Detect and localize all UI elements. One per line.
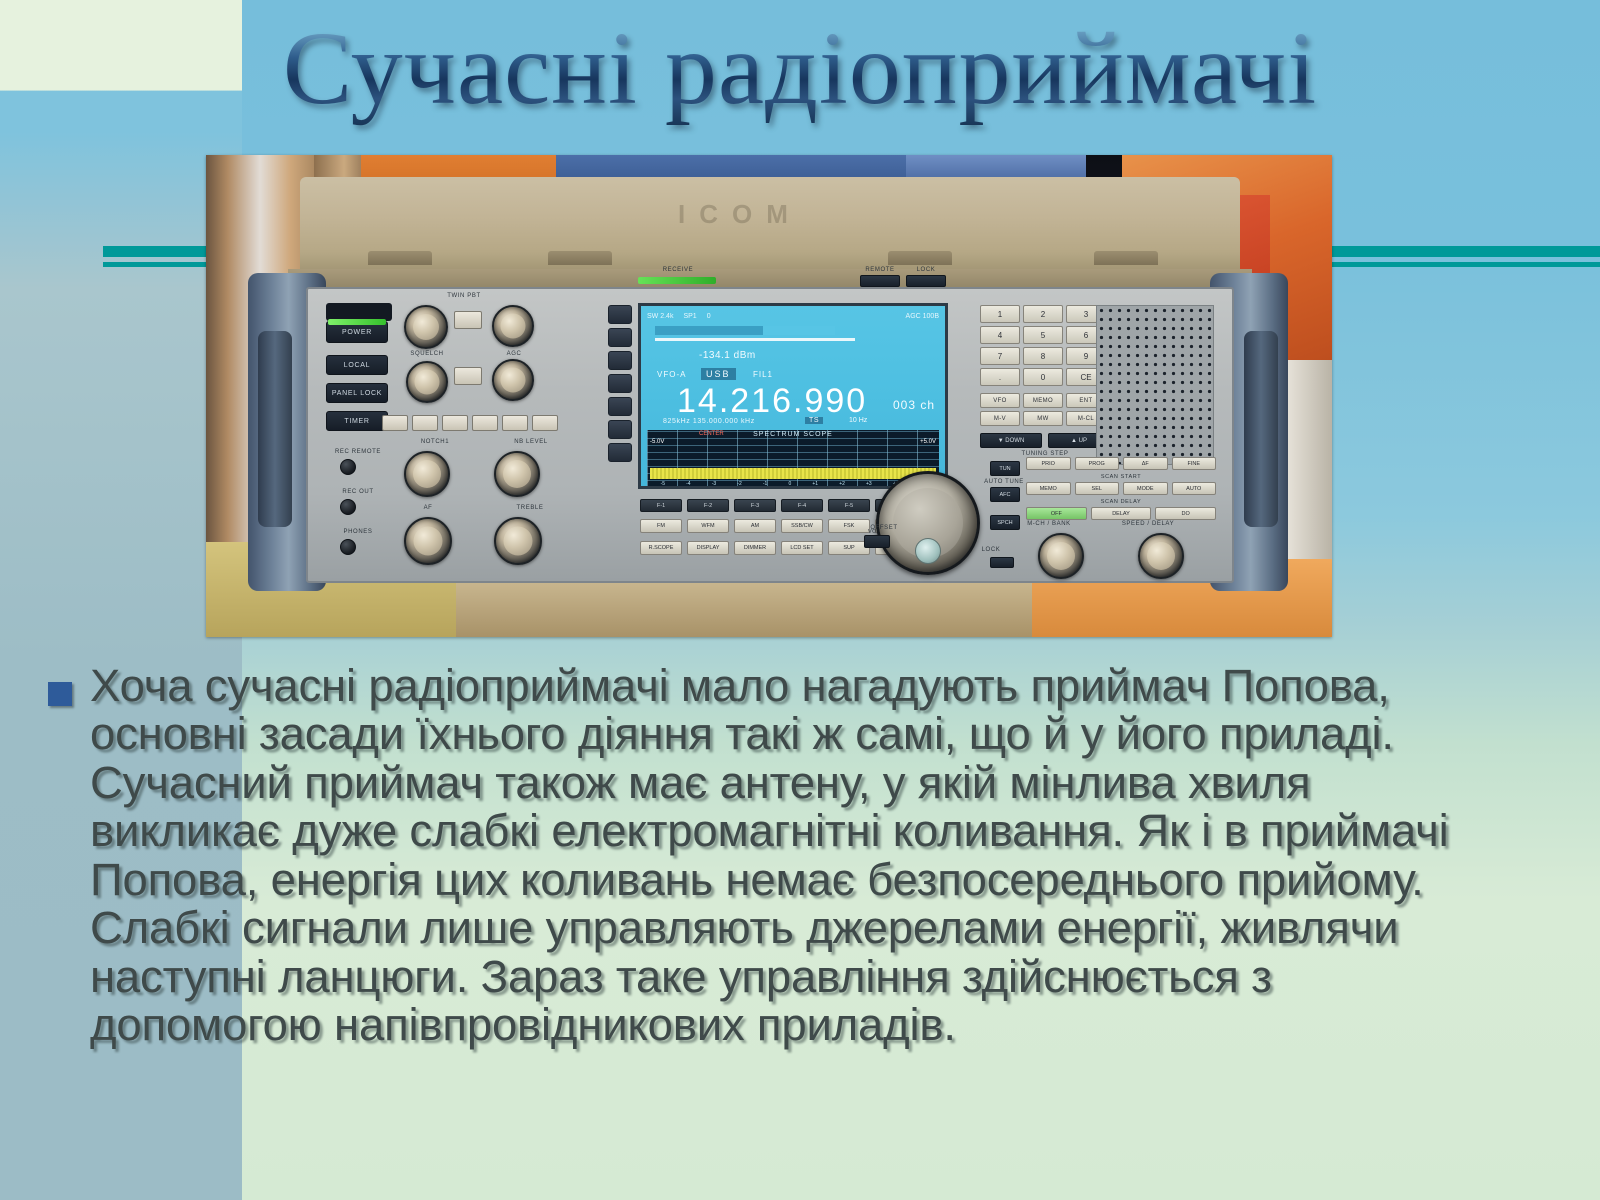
rack-handle-grip — [258, 331, 292, 527]
agc-knob[interactable] — [492, 359, 534, 401]
keypad-key-5[interactable]: 5 — [1023, 326, 1063, 344]
scope-title: SPECTRUM SCOPE — [647, 431, 939, 438]
scan-row-2: MEMO SEL MODE AUTO — [1026, 482, 1216, 495]
keypad-key-1[interactable]: 1 — [980, 305, 1020, 323]
scope-tick: -5 — [661, 481, 665, 487]
keypad-key-memo[interactable]: MEMO — [1023, 393, 1063, 408]
scan-key-fine[interactable]: FINE — [1172, 457, 1217, 470]
brand-logo: ICOM — [678, 199, 938, 229]
content-bullet-block: Хоча сучасні радіоприймачі мало нагадуют… — [48, 662, 1478, 1050]
scope-noise-floor — [650, 468, 936, 479]
timer-button[interactable]: TIMER — [326, 411, 388, 431]
softkey-column — [608, 305, 632, 466]
squelch-knob[interactable] — [406, 361, 448, 403]
function-key[interactable]: F-2 — [687, 499, 729, 512]
keypad-key-4[interactable]: 4 — [980, 326, 1020, 344]
scan-key-do[interactable]: DO — [1155, 507, 1216, 520]
squelch-label: SQUELCH — [404, 351, 450, 357]
lid-tab — [1094, 251, 1158, 265]
lcd-status-bar: SW 2.4k SP1 0 AGC 100B — [647, 310, 939, 322]
notch-knob[interactable] — [404, 451, 450, 497]
knob-cap — [414, 527, 443, 556]
rec-out-jack[interactable] — [340, 499, 356, 515]
scope-tick: +1 — [812, 481, 818, 487]
local-button[interactable]: LOCAL — [326, 355, 388, 375]
scope-tick: 0 — [788, 481, 791, 487]
scan-key-prog[interactable]: PROG — [1075, 457, 1120, 470]
panel-lock-button[interactable]: PANEL LOCK — [326, 383, 388, 403]
speaker-grille — [1096, 305, 1214, 465]
local-button-label: LOCAL — [344, 362, 370, 369]
lcd-frequency: 14.216.990 — [677, 382, 867, 421]
scope-center-marker: CENTER — [699, 431, 724, 437]
mode-key-wfm[interactable]: WFM — [687, 519, 729, 533]
softkey-4[interactable] — [608, 374, 632, 393]
speed-delay-label: SPEED / DELAY — [1098, 521, 1198, 527]
scope-tick: +3 — [866, 481, 872, 487]
knob-cap — [1047, 542, 1075, 570]
afc-button[interactable]: AFC — [990, 487, 1020, 502]
utility-key-rscope[interactable]: R.SCOPE — [640, 541, 682, 555]
scan-row-1: PRIO PROG ΔF FINE — [1026, 457, 1216, 470]
m-ch-bank-knob[interactable] — [1038, 533, 1084, 579]
treble-bass-knob[interactable] — [494, 517, 542, 565]
lcd-mode-badge: USB — [701, 368, 736, 380]
agc-mini-button[interactable] — [454, 367, 482, 385]
mode-key-fm[interactable]: FM — [640, 519, 682, 533]
scan-key-memo[interactable]: MEMO — [1026, 482, 1071, 495]
knob-cap — [501, 368, 526, 393]
keypad-digits: 1 2 3 4 5 6 7 8 9 . 0 CE — [980, 305, 1110, 386]
mode-key-ssb-cw[interactable]: SSB/CW — [781, 519, 823, 533]
softkey-2[interactable] — [608, 328, 632, 347]
scope-tick: +2 — [839, 481, 845, 487]
rec-remote-label: REC REMOTE — [318, 449, 398, 455]
keypad-function-keys: VFO MEMO ENT M-V MW M-CL — [980, 393, 1110, 426]
lcd-channel: 003 ch — [893, 398, 935, 412]
scan-key-delay[interactable]: DELAY — [1091, 507, 1152, 520]
knob-cap — [501, 314, 526, 339]
offset-label: OFFSET — [864, 525, 904, 531]
knob-cap — [415, 370, 440, 395]
notch1-switch[interactable] — [412, 415, 438, 431]
scan-row-3: OFF DELAY DO — [1026, 507, 1216, 520]
lcd-speaker: SP1 — [683, 313, 696, 320]
knob-cap — [413, 314, 439, 340]
scan-key-prio[interactable]: PRIO — [1026, 457, 1071, 470]
receiver-photograph: ICOM RECEIVE REMOTE LOCK — [206, 155, 1332, 637]
offset-button[interactable] — [864, 535, 890, 548]
utility-key-dimmer[interactable]: DIMMER — [734, 541, 776, 555]
lid-tab — [548, 251, 612, 265]
lock-button[interactable] — [906, 275, 946, 287]
phones-jack[interactable] — [340, 539, 356, 555]
function-key[interactable]: F-5 — [828, 499, 870, 512]
scan-key-off[interactable]: OFF — [1026, 507, 1087, 520]
agc-label: AGC — [494, 351, 534, 357]
lid-tab — [368, 251, 432, 265]
lcd-signal-level: -134.1 dBm — [699, 350, 756, 361]
tuning-step-buttons: ▼ DOWN ▲ UP — [980, 433, 1110, 448]
receiver-chassis: ICOM RECEIVE REMOTE LOCK — [248, 177, 1288, 601]
receiver-faceplate: RECEIVE REMOTE LOCK POWER LOCAL PANEL LO… — [306, 287, 1234, 583]
scan-start-label: SCAN START — [1026, 474, 1216, 480]
remote-button[interactable] — [860, 275, 900, 287]
softkey-7[interactable] — [608, 443, 632, 462]
softkey-6[interactable] — [608, 420, 632, 439]
af-rf-label: AF — [388, 505, 468, 511]
nr-switch[interactable] — [532, 415, 558, 431]
slide-title: Сучасні радіоприймачі — [0, 8, 1600, 131]
treble-bass-label: TREBLE — [480, 505, 580, 511]
keypad-key-2[interactable]: 2 — [1023, 305, 1063, 323]
tuning-down-button[interactable]: ▼ DOWN — [980, 433, 1042, 448]
phones-label: PHONES — [318, 529, 398, 535]
m-ch-bank-label: M-CH / BANK — [1004, 521, 1094, 527]
lock-label: LOCK — [906, 267, 946, 273]
lcd-step-value: 10 Hz — [849, 417, 867, 424]
scan-key-auto[interactable]: AUTO — [1172, 482, 1217, 495]
notch-knob-label: NOTCH1 — [380, 439, 490, 445]
scope-tick: -4 — [686, 481, 690, 487]
softkey-1[interactable] — [608, 305, 632, 324]
notch2-switch[interactable] — [442, 415, 468, 431]
rec-out-label: REC OUT — [318, 489, 398, 495]
utility-key-display[interactable]: DISPLAY — [687, 541, 729, 555]
function-key[interactable]: F-3 — [734, 499, 776, 512]
lcd-bandwidth: SW 2.4k — [647, 313, 673, 320]
utility-key-lcd-set[interactable]: LCD SET — [781, 541, 823, 555]
softkey-5[interactable] — [608, 397, 632, 416]
rit-switch[interactable] — [382, 415, 408, 431]
receive-led — [638, 277, 716, 284]
lcd-agc: AGC 100B — [906, 313, 939, 320]
lcd-s-meter — [655, 326, 835, 335]
scope-tick: -2 — [737, 481, 741, 487]
softkey-3[interactable] — [608, 351, 632, 370]
presentation-slide: Сучасні радіоприймачі ICOM — [0, 0, 1600, 1200]
remote-label: REMOTE — [860, 267, 900, 273]
apf-switch[interactable] — [472, 415, 498, 431]
scan-key-mode[interactable]: MODE — [1123, 482, 1168, 495]
dial-lock-button[interactable] — [990, 557, 1014, 568]
scan-key-sel[interactable]: SEL — [1075, 482, 1120, 495]
auto-tune-label: AUTO TUNE — [974, 479, 1034, 485]
af-rf-knob[interactable] — [404, 517, 452, 565]
tun-button[interactable]: TUN — [990, 461, 1020, 476]
knob-cap — [413, 460, 441, 488]
function-key[interactable]: F-4 — [781, 499, 823, 512]
numeric-keypad: 1 2 3 4 5 6 7 8 9 . 0 CE VFO — [980, 305, 1110, 454]
scope-tick: -1 — [763, 481, 767, 487]
scan-key-df[interactable]: ΔF — [1123, 457, 1168, 470]
lcd-zero: 0 — [707, 313, 711, 320]
lcd-sub-info: 825kHz 135.000.000 kHz — [663, 418, 755, 425]
lock-knob-label: LOCK — [974, 547, 1008, 553]
knob-cap — [503, 460, 531, 488]
lid-tab — [888, 251, 952, 265]
power-led — [328, 319, 386, 325]
pbt-outer-knob[interactable] — [492, 305, 534, 347]
speed-delay-knob[interactable] — [1138, 533, 1184, 579]
keypad-key-8[interactable]: 8 — [1023, 347, 1063, 365]
bullet-paragraph: Хоча сучасні радіоприймачі мало нагадуют… — [90, 662, 1478, 1050]
lcd-vfo-label: VFO-A — [657, 370, 686, 379]
keypad-key-7[interactable]: 7 — [980, 347, 1020, 365]
tuning-dial-dimple[interactable] — [915, 538, 941, 564]
panel-lock-button-label: PANEL LOCK — [332, 390, 382, 397]
scan-control-cluster: PRIO PROG ΔF FINE SCAN START MEMO SEL MO… — [1026, 457, 1216, 524]
keypad-key-0[interactable]: 0 — [1023, 368, 1063, 386]
nb-switch[interactable] — [502, 415, 528, 431]
keypad-key-vfo[interactable]: VFO — [980, 393, 1020, 408]
lcd-s-meter-underline — [655, 338, 855, 341]
pbt-clear-button[interactable] — [454, 311, 482, 329]
lcd-filter-label: FIL1 — [753, 370, 773, 379]
function-key[interactable]: F-1 — [640, 499, 682, 512]
knob-cap — [504, 527, 533, 556]
nb-nr-knob-label: NB LEVEL — [476, 439, 586, 445]
bullet-marker-icon — [48, 682, 72, 706]
scope-tick: -3 — [712, 481, 716, 487]
rack-handle-grip — [1244, 331, 1278, 527]
nb-nr-knob[interactable] — [494, 451, 540, 497]
mode-key-am[interactable]: AM — [734, 519, 776, 533]
twin-pbt-label: TWIN PBT — [404, 293, 524, 299]
power-button-label: POWER — [342, 329, 372, 336]
scope-right-label: +5.0V — [920, 439, 936, 445]
main-tuning-dial[interactable] — [876, 471, 980, 575]
knob-cap — [1147, 542, 1175, 570]
scope-left-label: -5.0V — [650, 439, 664, 445]
scan-delay-label: SCAN DELAY — [1026, 499, 1216, 505]
rec-remote-jack[interactable] — [340, 459, 356, 475]
receive-label: RECEIVE — [640, 267, 716, 273]
keypad-key-mv[interactable]: M-V — [980, 411, 1020, 426]
timer-button-label: TIMER — [344, 418, 369, 425]
keypad-key-mw[interactable]: MW — [1023, 411, 1063, 426]
pbt-inner-knob[interactable] — [404, 305, 448, 349]
lcd-tuning-step-badge: TS — [805, 417, 823, 424]
keypad-key-dot[interactable]: . — [980, 368, 1020, 386]
lcd-spectrum-scope: SPECTRUM SCOPE CENTER -5.0V +5.0V -5 -4 … — [647, 430, 939, 488]
lcd-display: SW 2.4k SP1 0 AGC 100B -134.1 dBm VFO-A … — [638, 303, 948, 489]
